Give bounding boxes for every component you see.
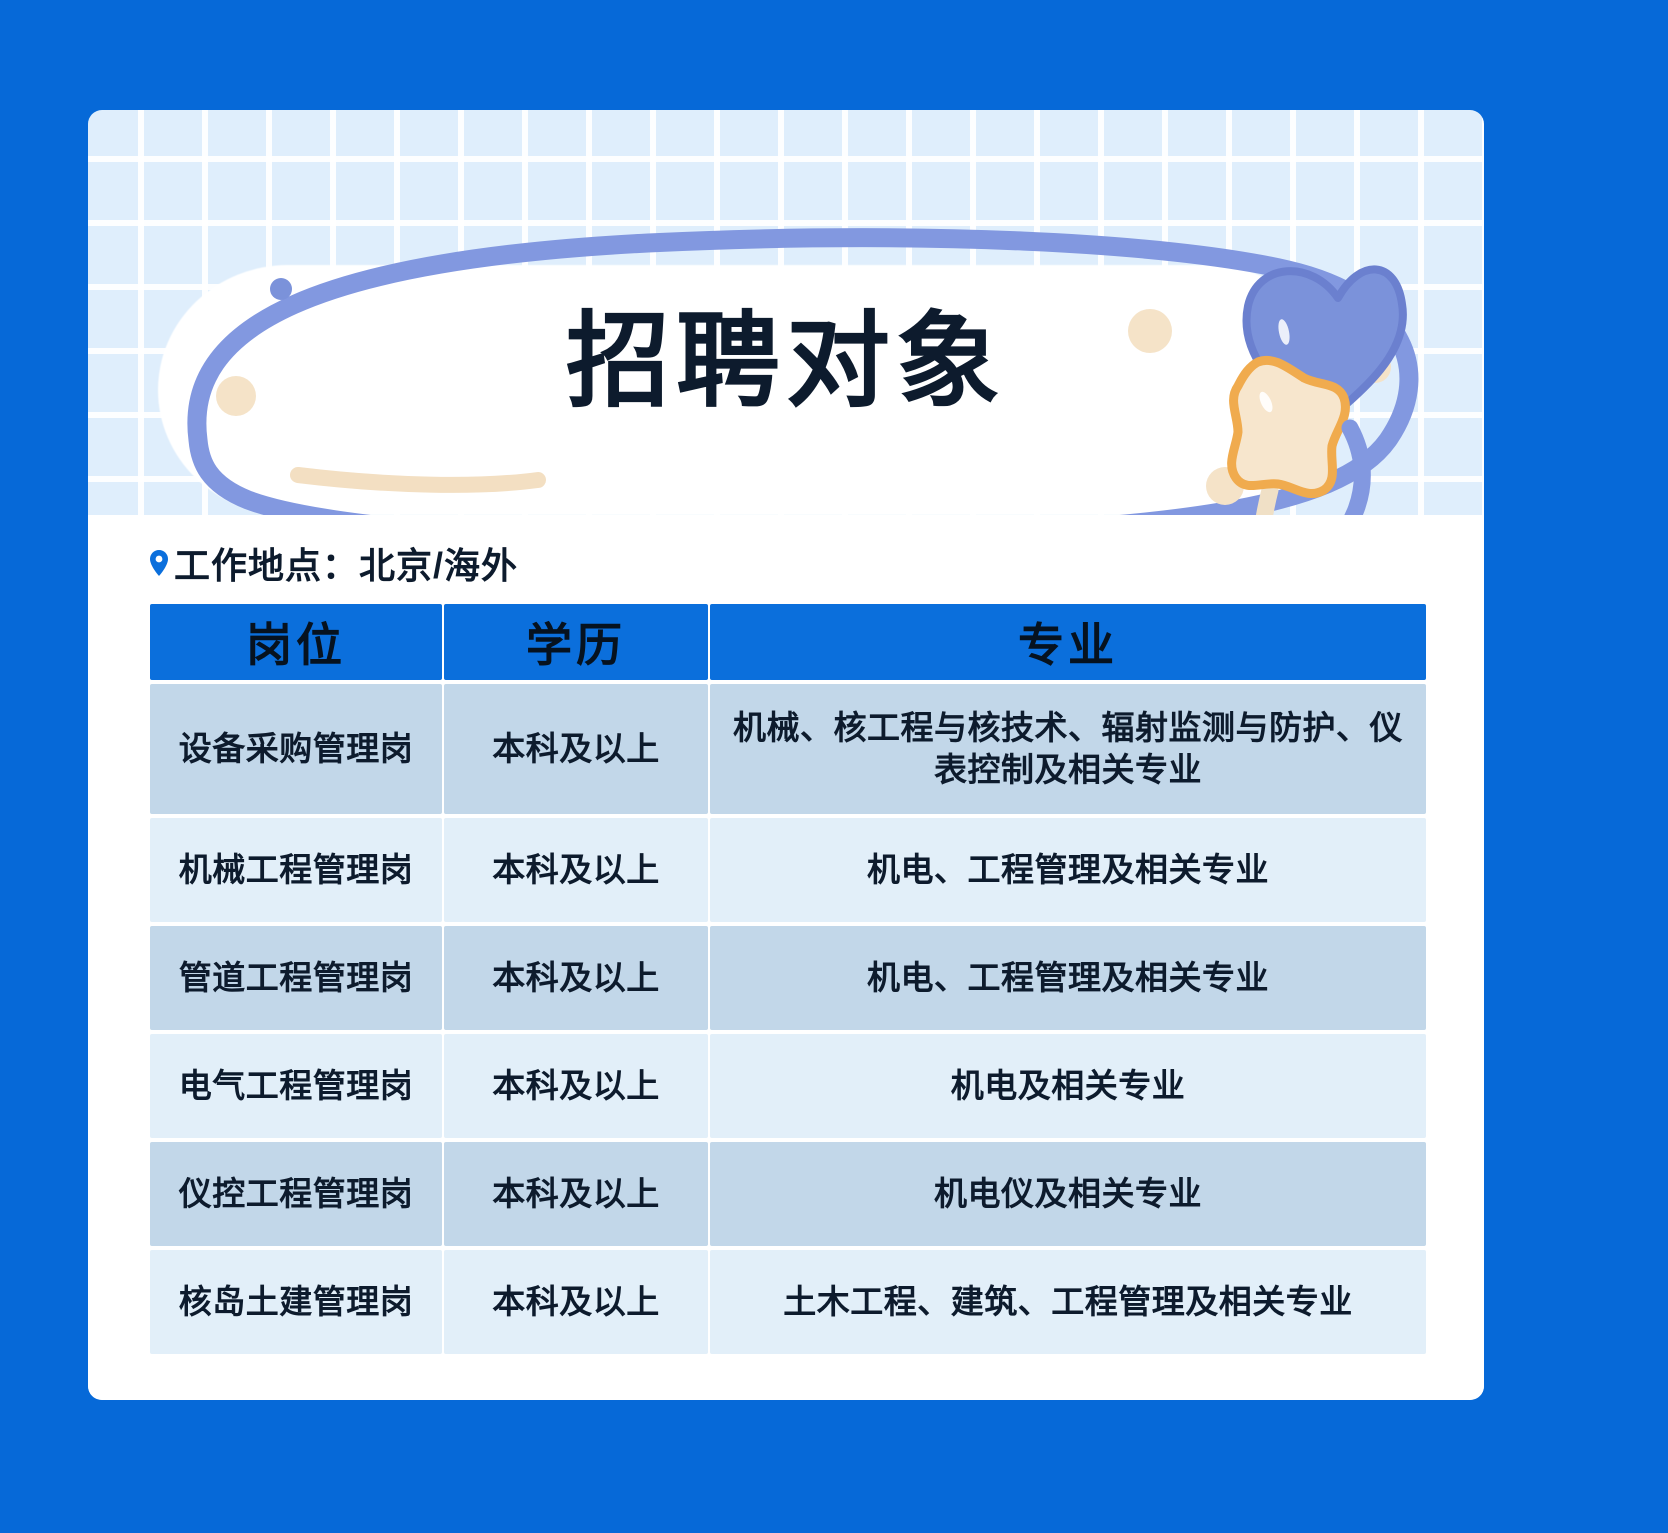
- cell-education: 本科及以上: [444, 926, 708, 1030]
- cell-major: 机电仪及相关专业: [710, 1142, 1426, 1246]
- cell-position: 设备采购管理岗: [150, 684, 442, 814]
- cell-education: 本科及以上: [444, 1034, 708, 1138]
- table-row: 电气工程管理岗 本科及以上 机电及相关专业: [150, 1034, 1426, 1138]
- table-row: 管道工程管理岗 本科及以上 机电、工程管理及相关专业: [150, 926, 1426, 1030]
- cell-position: 核岛土建管理岗: [150, 1250, 442, 1354]
- table-row: 仪控工程管理岗 本科及以上 机电仪及相关专业: [150, 1142, 1426, 1246]
- cell-education: 本科及以上: [444, 1142, 708, 1246]
- cell-education: 本科及以上: [444, 684, 708, 814]
- table-row: 核岛土建管理岗 本科及以上 土木工程、建筑、工程管理及相关专业: [150, 1250, 1426, 1354]
- cell-major: 机电、工程管理及相关专业: [710, 818, 1426, 922]
- cell-major: 土木工程、建筑、工程管理及相关专业: [710, 1250, 1426, 1354]
- cell-position: 管道工程管理岗: [150, 926, 442, 1030]
- table-header-row: 岗位 学历 专业: [150, 604, 1426, 680]
- poster-card: 招聘对象 工作地点：北京/海外 岗位 学历 专业 设备采购管理岗 本科及以上: [88, 110, 1484, 1400]
- cell-major: 机械、核工程与核技术、辐射监测与防护、仪表控制及相关专业: [710, 684, 1426, 814]
- map-pin-icon: [150, 550, 168, 576]
- cell-education: 本科及以上: [444, 1250, 708, 1354]
- table-row: 设备采购管理岗 本科及以上 机械、核工程与核技术、辐射监测与防护、仪表控制及相关…: [150, 684, 1426, 814]
- work-location-label: 工作地点：北京/海外: [174, 537, 518, 589]
- cell-position: 仪控工程管理岗: [150, 1142, 442, 1246]
- column-header-education: 学历: [444, 604, 708, 680]
- cell-position: 电气工程管理岗: [150, 1034, 442, 1138]
- column-header-major: 专业: [710, 604, 1426, 680]
- work-location: 工作地点：北京/海外: [150, 537, 518, 589]
- cell-major: 机电及相关专业: [710, 1034, 1426, 1138]
- page-title: 招聘对象: [88, 305, 1484, 419]
- cell-major: 机电、工程管理及相关专业: [710, 926, 1426, 1030]
- content-panel: 工作地点：北京/海外 岗位 学历 专业 设备采购管理岗 本科及以上 机械、核工程…: [88, 515, 1484, 1400]
- column-header-position: 岗位: [150, 604, 442, 680]
- recruitment-table: 岗位 学历 专业 设备采购管理岗 本科及以上 机械、核工程与核技术、辐射监测与防…: [148, 600, 1428, 1358]
- cell-position: 机械工程管理岗: [150, 818, 442, 922]
- cell-education: 本科及以上: [444, 818, 708, 922]
- table-row: 机械工程管理岗 本科及以上 机电、工程管理及相关专业: [150, 818, 1426, 922]
